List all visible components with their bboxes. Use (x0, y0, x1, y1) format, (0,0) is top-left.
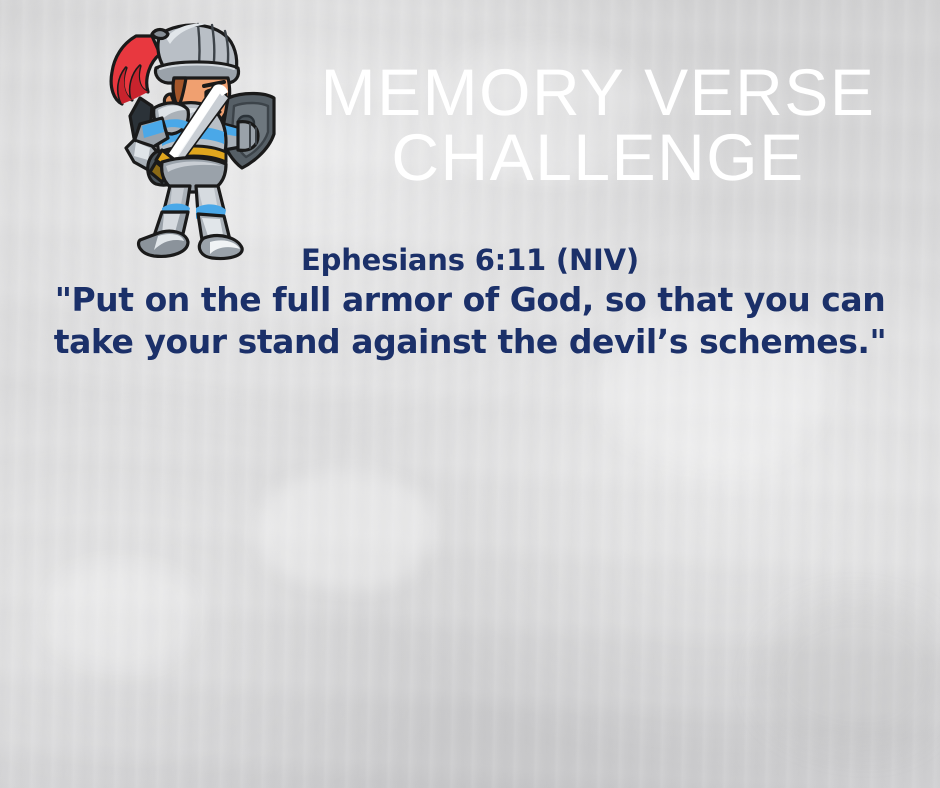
title-line-2: CHALLENGE (296, 125, 900, 190)
page-title: MEMORY VERSE CHALLENGE (296, 60, 900, 189)
verse-text: "Put on the full armor of God, so that y… (0, 279, 940, 363)
poster-canvas: MEMORY VERSE CHALLENGE Ephesians 6:11 (N… (0, 0, 940, 788)
background-blot-1 (255, 470, 435, 590)
background-blot-4 (760, 600, 940, 750)
title-line-1: MEMORY VERSE (296, 60, 900, 125)
background-blot-3 (40, 560, 200, 670)
knight-illustration (78, 12, 278, 262)
